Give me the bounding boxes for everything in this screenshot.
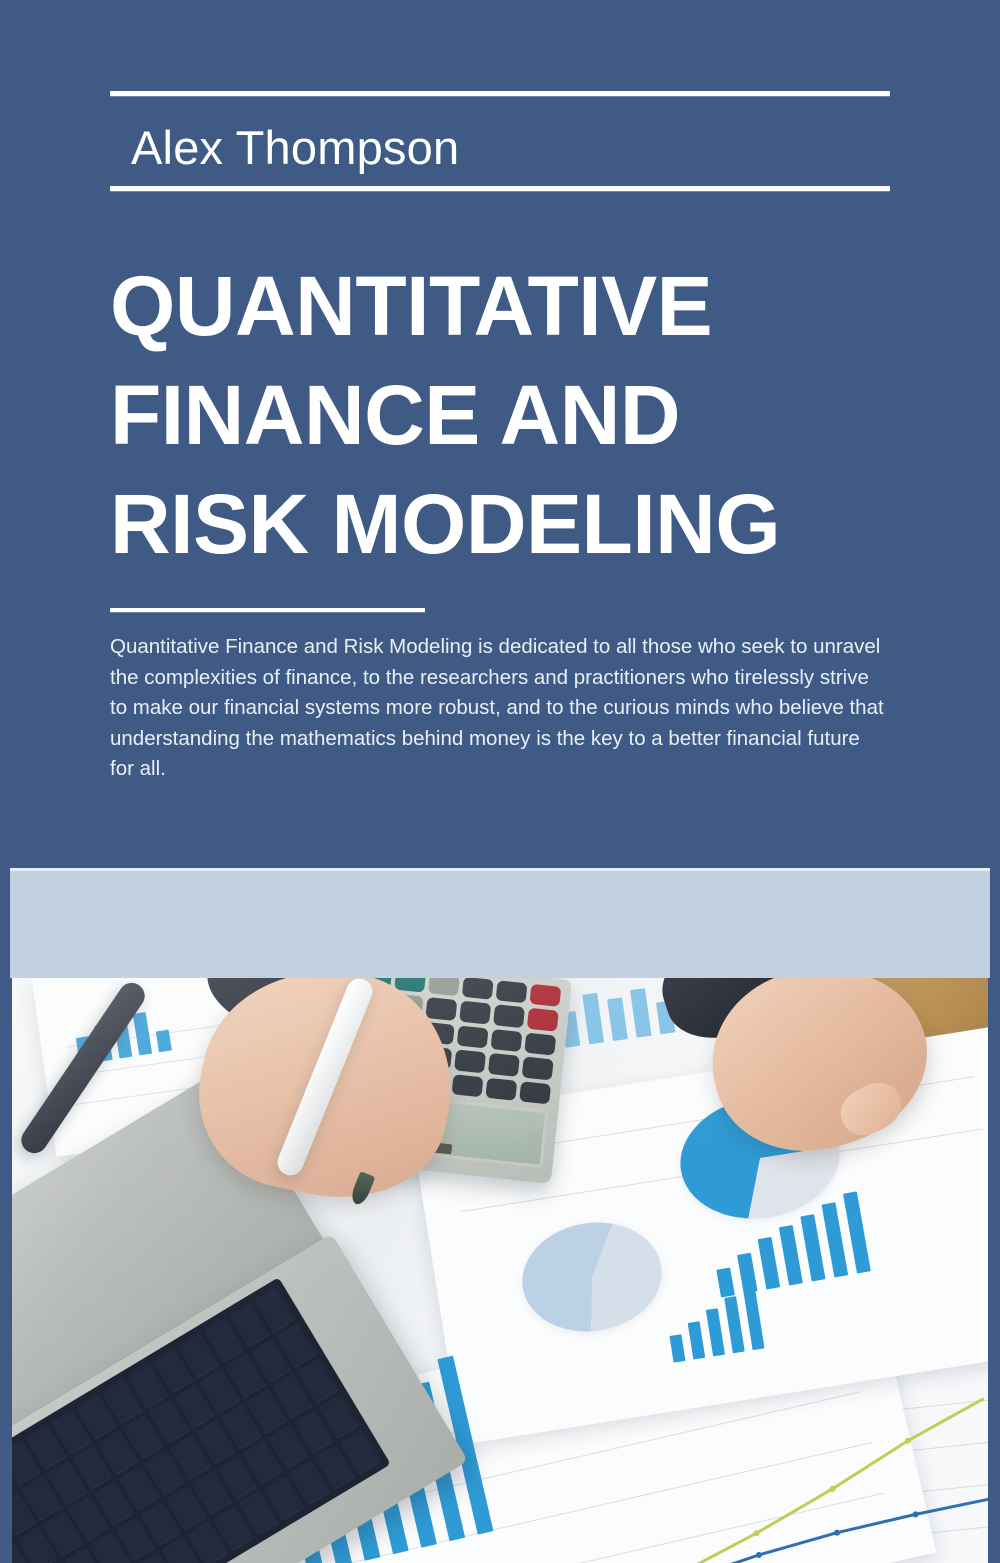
page-title: QUANTITATIVE FINANCE AND RISK MODELING: [110, 252, 900, 579]
cover-photo-frame: [0, 978, 1000, 1563]
title-line-2: FINANCE AND: [110, 361, 900, 470]
title-line-1: QUANTITATIVE: [110, 252, 900, 361]
book-cover: Alex Thompson QUANTITATIVE FINANCE AND R…: [0, 0, 1000, 1563]
title-line-3: RISK MODELING: [110, 470, 900, 579]
divider-top: [110, 91, 890, 96]
author-name: Alex Thompson: [131, 117, 891, 179]
dedication-text: Quantitative Finance and Risk Modeling i…: [110, 632, 885, 785]
bar-chart-middle: [661, 1271, 764, 1362]
divider-above-description: [110, 608, 425, 612]
accent-band: [0, 868, 1000, 978]
divider-under-author: [110, 186, 890, 191]
cover-photo: [12, 978, 988, 1563]
cover-header-panel: Alex Thompson QUANTITATIVE FINANCE AND R…: [0, 0, 1000, 868]
